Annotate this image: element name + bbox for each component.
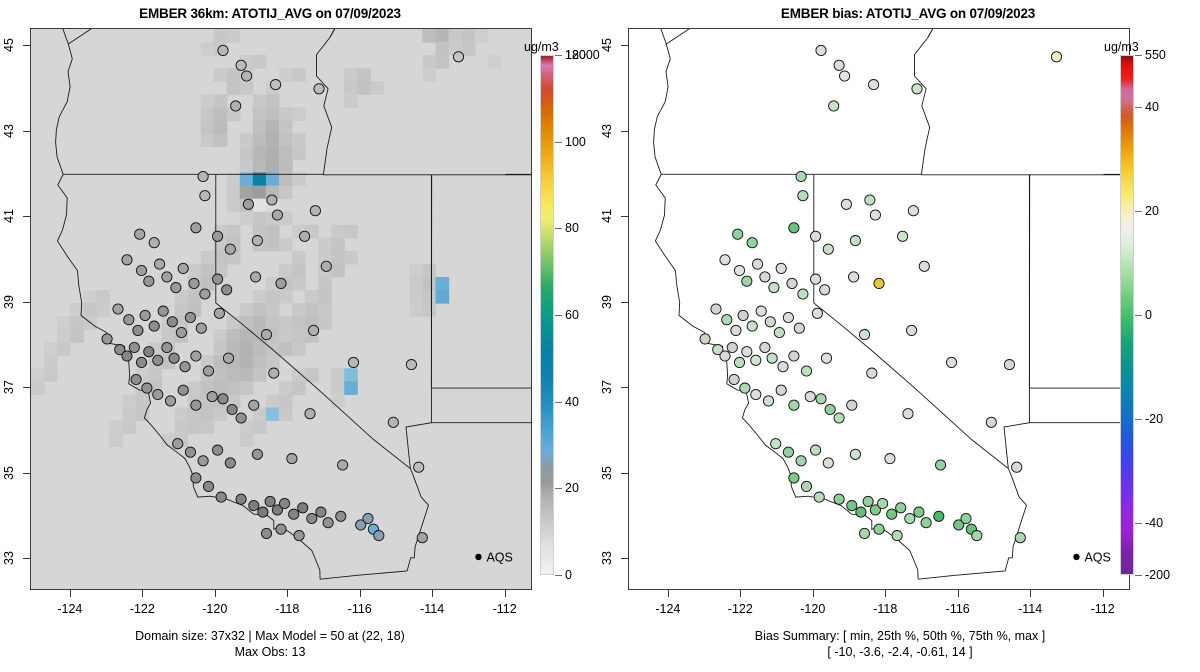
- colorbar-tick-mark: [1135, 523, 1142, 524]
- station-marker[interactable]: [140, 310, 150, 320]
- x-tick-label: -118: [275, 602, 299, 616]
- station-marker[interactable]: [213, 445, 223, 455]
- map-boundary: [814, 174, 1030, 468]
- station-marker[interactable]: [789, 473, 799, 483]
- station-marker[interactable]: [252, 449, 262, 459]
- station-marker[interactable]: [276, 278, 286, 288]
- model-grid-cell: [31, 368, 45, 382]
- station-marker[interactable]: [276, 524, 286, 534]
- y-tick-mark: [23, 45, 30, 46]
- station-marker[interactable]: [348, 357, 358, 367]
- colorbar-gradient[interactable]: [1120, 55, 1134, 575]
- station-marker[interactable]: [261, 528, 271, 538]
- station-marker[interactable]: [158, 306, 168, 316]
- station-marker[interactable]: [124, 315, 134, 325]
- x-tick-mark: [1030, 590, 1031, 597]
- station-marker[interactable]: [214, 308, 224, 318]
- y-tick-label: 43: [600, 124, 614, 138]
- station-marker[interactable]: [919, 261, 929, 271]
- station-marker[interactable]: [801, 481, 811, 491]
- station-marker[interactable]: [252, 236, 262, 246]
- station-marker[interactable]: [261, 330, 271, 340]
- station-marker[interactable]: [305, 409, 315, 419]
- station-marker[interactable]: [136, 265, 146, 275]
- station-marker[interactable]: [834, 413, 844, 423]
- station-marker[interactable]: [227, 404, 237, 414]
- model-grid-cell: [188, 264, 202, 278]
- station-marker[interactable]: [742, 347, 752, 357]
- station-marker[interactable]: [336, 511, 346, 521]
- station-marker[interactable]: [280, 498, 290, 508]
- model-grid-cell: [423, 68, 437, 82]
- model-grid-cell: [409, 290, 423, 304]
- model-grid-cell: [266, 160, 280, 174]
- station-marker[interactable]: [747, 238, 757, 248]
- station-marker[interactable]: [218, 394, 228, 404]
- station-marker[interactable]: [961, 513, 971, 523]
- station-marker[interactable]: [805, 392, 815, 402]
- colorbar-tick-mark: [1135, 211, 1142, 212]
- station-marker[interactable]: [1015, 533, 1025, 543]
- station-marker[interactable]: [905, 513, 915, 523]
- map-boundary: [666, 29, 925, 44]
- station-marker[interactable]: [406, 360, 416, 370]
- model-grid-cell: [279, 264, 293, 278]
- station-marker[interactable]: [251, 272, 261, 282]
- station-marker[interactable]: [823, 458, 833, 468]
- station-marker[interactable]: [700, 334, 710, 344]
- model-grid-cell: [109, 434, 123, 448]
- caption-line1-bias: Bias Summary: [ min, 25th %, 50th %, 75t…: [630, 628, 1170, 644]
- model-grid-cell: [462, 42, 476, 56]
- station-marker[interactable]: [859, 528, 869, 538]
- model-grid-cell: [266, 407, 280, 421]
- station-marker[interactable]: [338, 460, 348, 470]
- station-marker[interactable]: [236, 494, 246, 504]
- station-marker[interactable]: [162, 342, 172, 352]
- station-marker[interactable]: [816, 45, 826, 55]
- station-marker[interactable]: [912, 84, 922, 94]
- caption-line1-model: Domain size: 37x32 | Max Model = 50 at (…: [0, 628, 540, 644]
- station-marker[interactable]: [191, 400, 201, 410]
- model-grid-cell: [253, 160, 267, 174]
- model-grid-cell: [253, 303, 267, 317]
- y-tick-label: 41: [600, 209, 614, 223]
- station-marker[interactable]: [850, 236, 860, 246]
- station-marker[interactable]: [796, 171, 806, 181]
- station-marker[interactable]: [203, 481, 213, 491]
- colorbar-tick-mark: [1135, 419, 1142, 420]
- model-grid-cell: [423, 303, 437, 317]
- station-marker[interactable]: [789, 400, 799, 410]
- station-marker[interactable]: [178, 263, 188, 273]
- map-boundary: [928, 29, 933, 38]
- model-grid-cell: [227, 68, 241, 82]
- station-marker[interactable]: [1051, 52, 1061, 62]
- station-marker[interactable]: [783, 447, 793, 457]
- model-grid-cell: [240, 133, 254, 147]
- station-marker[interactable]: [213, 231, 223, 241]
- station-marker[interactable]: [200, 289, 210, 299]
- model-grid-cell: [279, 146, 293, 160]
- station-marker[interactable]: [722, 315, 732, 325]
- station-marker[interactable]: [363, 513, 373, 523]
- station-marker[interactable]: [289, 509, 299, 519]
- station-marker[interactable]: [763, 396, 773, 406]
- station-marker[interactable]: [856, 507, 866, 517]
- station-marker[interactable]: [191, 223, 201, 233]
- station-marker[interactable]: [767, 353, 777, 363]
- model-grid-cell: [344, 368, 358, 382]
- station-marker[interactable]: [892, 531, 902, 541]
- x-tick-mark: [1103, 590, 1104, 597]
- model-grid-cell: [253, 212, 267, 226]
- station-marker[interactable]: [222, 285, 232, 295]
- x-axis-bias: -124-122-120-118-116-114-112: [628, 590, 1128, 620]
- station-marker[interactable]: [865, 195, 875, 205]
- station-marker[interactable]: [144, 347, 154, 357]
- station-marker[interactable]: [155, 259, 165, 269]
- map-canvas-bias: AQS: [629, 29, 1129, 589]
- y-axis-bias: 33353739414345: [619, 28, 628, 588]
- station-marker[interactable]: [711, 304, 721, 314]
- x-tick-label: -120: [800, 602, 825, 616]
- station-marker[interactable]: [1012, 462, 1022, 472]
- station-marker[interactable]: [771, 439, 781, 449]
- model-grid-cell: [201, 407, 215, 421]
- station-marker[interactable]: [149, 238, 159, 248]
- station-marker[interactable]: [898, 231, 908, 241]
- station-marker[interactable]: [309, 325, 319, 335]
- station-marker[interactable]: [269, 368, 279, 378]
- station-marker[interactable]: [129, 342, 139, 352]
- station-marker[interactable]: [225, 458, 235, 468]
- station-marker[interactable]: [191, 473, 201, 483]
- y-tick-mark: [621, 302, 628, 303]
- station-marker[interactable]: [840, 71, 850, 81]
- station-marker[interactable]: [814, 492, 824, 502]
- station-marker[interactable]: [213, 274, 223, 284]
- y-tick-label: 45: [2, 38, 16, 52]
- model-grid-cell: [266, 107, 280, 121]
- station-marker[interactable]: [267, 195, 277, 205]
- colorbar-tick-mark: [1135, 575, 1142, 576]
- station-marker[interactable]: [249, 400, 259, 410]
- station-marker[interactable]: [417, 533, 427, 543]
- station-marker[interactable]: [223, 353, 233, 363]
- station-marker[interactable]: [153, 389, 163, 399]
- station-marker[interactable]: [740, 383, 750, 393]
- model-grid-cell: [436, 29, 450, 43]
- model-grid-cell: [266, 120, 280, 134]
- station-marker[interactable]: [986, 417, 996, 427]
- station-marker[interactable]: [165, 396, 175, 406]
- station-marker[interactable]: [236, 60, 246, 70]
- model-grid-cell: [240, 368, 254, 382]
- x-tick-label: -116: [348, 602, 372, 616]
- station-marker[interactable]: [271, 80, 281, 90]
- station-marker[interactable]: [874, 524, 884, 534]
- station-marker[interactable]: [903, 409, 913, 419]
- station-marker[interactable]: [153, 355, 163, 365]
- station-marker[interactable]: [834, 494, 844, 504]
- station-marker[interactable]: [162, 272, 172, 282]
- colorbar-gradient[interactable]: [540, 55, 554, 575]
- station-marker[interactable]: [720, 351, 730, 361]
- station-marker[interactable]: [751, 355, 761, 365]
- station-marker[interactable]: [751, 389, 761, 399]
- station-marker[interactable]: [834, 60, 844, 70]
- station-marker[interactable]: [314, 84, 324, 94]
- station-marker[interactable]: [753, 259, 763, 269]
- station-marker[interactable]: [765, 317, 775, 327]
- station-marker[interactable]: [189, 278, 199, 288]
- station-marker[interactable]: [243, 199, 253, 209]
- model-grid-cell: [227, 225, 241, 239]
- model-grid-cell: [253, 290, 267, 304]
- station-marker[interactable]: [185, 447, 195, 457]
- station-marker[interactable]: [122, 255, 132, 265]
- station-marker[interactable]: [258, 507, 268, 517]
- station-marker[interactable]: [167, 317, 177, 327]
- station-marker[interactable]: [323, 518, 333, 528]
- colorbar-tick-mark: [1135, 55, 1142, 56]
- station-marker[interactable]: [265, 496, 275, 506]
- station-marker[interactable]: [907, 325, 917, 335]
- station-marker[interactable]: [307, 513, 317, 523]
- model-grid-cell: [240, 329, 254, 343]
- station-marker[interactable]: [847, 501, 857, 511]
- station-marker[interactable]: [316, 507, 326, 517]
- station-marker[interactable]: [863, 496, 873, 506]
- station-marker[interactable]: [207, 392, 217, 402]
- station-marker[interactable]: [778, 362, 788, 372]
- model-grid-cell: [83, 303, 97, 317]
- station-marker[interactable]: [173, 439, 183, 449]
- x-tick-label: -124: [655, 602, 680, 616]
- station-marker[interactable]: [321, 261, 331, 271]
- station-marker[interactable]: [936, 460, 946, 470]
- station-marker[interactable]: [720, 255, 730, 265]
- model-grid-cell: [240, 303, 254, 317]
- station-marker[interactable]: [225, 244, 235, 254]
- station-marker[interactable]: [801, 366, 811, 376]
- station-marker[interactable]: [972, 531, 982, 541]
- station-marker[interactable]: [196, 323, 206, 333]
- station-marker[interactable]: [236, 413, 246, 423]
- station-marker[interactable]: [742, 276, 752, 286]
- station-marker[interactable]: [841, 199, 851, 209]
- station-marker[interactable]: [298, 503, 308, 513]
- station-marker[interactable]: [144, 276, 154, 286]
- station-marker[interactable]: [102, 334, 112, 344]
- colorbar-tick-label: -20: [1145, 412, 1163, 426]
- station-marker[interactable]: [796, 456, 806, 466]
- station-marker[interactable]: [774, 327, 784, 337]
- model-grid-cell: [344, 225, 358, 239]
- station-marker[interactable]: [142, 383, 152, 393]
- station-marker[interactable]: [823, 244, 833, 254]
- model-grid-cell: [96, 290, 110, 304]
- station-marker[interactable]: [946, 357, 956, 367]
- colorbar-unit-label: ug/m3: [1104, 40, 1139, 54]
- station-marker[interactable]: [825, 404, 835, 414]
- y-tick-mark: [23, 131, 30, 132]
- station-marker[interactable]: [388, 417, 398, 427]
- station-marker[interactable]: [374, 531, 384, 541]
- station-marker[interactable]: [914, 507, 924, 517]
- station-marker[interactable]: [300, 231, 310, 241]
- station-marker[interactable]: [242, 71, 252, 81]
- x-tick-label: -122: [728, 602, 753, 616]
- model-grid-cell: [318, 290, 332, 304]
- y-tick-label: 37: [2, 380, 16, 394]
- station-marker[interactable]: [310, 206, 320, 216]
- station-marker[interactable]: [850, 449, 860, 459]
- station-marker[interactable]: [812, 308, 822, 318]
- station-marker[interactable]: [294, 531, 304, 541]
- y-tick-label: 35: [600, 466, 614, 480]
- station-marker[interactable]: [787, 278, 797, 288]
- model-grid-cell: [253, 133, 267, 147]
- station-marker[interactable]: [849, 272, 859, 282]
- station-marker[interactable]: [287, 454, 297, 464]
- station-marker[interactable]: [821, 353, 831, 363]
- x-tick-label: -112: [1091, 602, 1115, 616]
- model-grid-cell: [253, 94, 267, 108]
- model-grid-cell: [370, 81, 384, 95]
- station-marker[interactable]: [747, 321, 757, 331]
- station-marker[interactable]: [733, 229, 743, 239]
- model-grid-cell: [201, 107, 215, 121]
- station-marker[interactable]: [136, 357, 146, 367]
- model-grid-cell: [253, 355, 267, 369]
- station-marker[interactable]: [921, 518, 931, 528]
- station-marker[interactable]: [798, 289, 808, 299]
- station-marker[interactable]: [887, 509, 897, 519]
- station-marker[interactable]: [176, 327, 186, 337]
- station-marker[interactable]: [769, 283, 779, 293]
- station-marker[interactable]: [738, 310, 748, 320]
- station-marker[interactable]: [178, 385, 188, 395]
- station-marker[interactable]: [878, 498, 888, 508]
- station-marker[interactable]: [734, 265, 744, 275]
- map-boundary: [915, 29, 933, 174]
- station-marker[interactable]: [734, 357, 744, 367]
- station-marker[interactable]: [113, 304, 123, 314]
- station-marker[interactable]: [453, 52, 463, 62]
- model-grid-cell: [201, 42, 215, 56]
- station-marker[interactable]: [191, 351, 201, 361]
- station-marker[interactable]: [169, 353, 179, 363]
- station-marker[interactable]: [908, 206, 918, 216]
- station-marker[interactable]: [149, 321, 159, 331]
- station-marker[interactable]: [783, 312, 793, 322]
- station-marker[interactable]: [218, 45, 228, 55]
- station-marker[interactable]: [811, 274, 821, 284]
- station-marker[interactable]: [870, 210, 880, 220]
- station-marker[interactable]: [198, 456, 208, 466]
- model-grid-cell: [318, 238, 332, 252]
- station-marker[interactable]: [874, 278, 884, 288]
- station-marker[interactable]: [203, 366, 213, 376]
- station-marker[interactable]: [731, 325, 741, 335]
- station-marker[interactable]: [869, 80, 879, 90]
- y-tick-mark: [621, 387, 628, 388]
- map-plot-bias[interactable]: AQS: [628, 28, 1130, 590]
- station-marker[interactable]: [896, 503, 906, 513]
- map-plot-model[interactable]: AQS: [30, 28, 532, 590]
- station-marker[interactable]: [847, 400, 857, 410]
- model-grid-cell: [331, 251, 345, 265]
- model-grid-cell: [292, 68, 306, 82]
- model-grid-cell: [423, 29, 437, 43]
- model-grid-cell: [240, 146, 254, 160]
- model-grid-cell: [253, 342, 267, 356]
- model-grid-cell: [292, 251, 306, 265]
- station-marker[interactable]: [185, 312, 195, 322]
- station-marker[interactable]: [820, 285, 830, 295]
- station-marker[interactable]: [131, 374, 141, 384]
- model-grid-cell: [227, 186, 241, 200]
- y-tick-mark: [23, 558, 30, 559]
- station-marker[interactable]: [816, 394, 826, 404]
- model-grid-cell: [175, 421, 189, 435]
- station-marker[interactable]: [756, 306, 766, 316]
- model-grid-cell: [266, 303, 280, 317]
- station-marker[interactable]: [776, 385, 786, 395]
- station-marker[interactable]: [216, 492, 226, 502]
- colorbar-bias[interactable]: ug/m355040200-20-40-200: [1120, 40, 1190, 585]
- station-marker[interactable]: [934, 511, 944, 521]
- model-grid-cell: [266, 94, 280, 108]
- station-marker[interactable]: [798, 191, 808, 201]
- station-marker[interactable]: [811, 445, 821, 455]
- station-marker[interactable]: [829, 101, 839, 111]
- station-marker[interactable]: [122, 351, 132, 361]
- station-marker[interactable]: [794, 323, 804, 333]
- station-marker[interactable]: [760, 272, 770, 282]
- station-marker[interactable]: [200, 191, 210, 201]
- model-grid-cell: [318, 316, 332, 330]
- station-marker[interactable]: [231, 101, 241, 111]
- station-marker[interactable]: [789, 351, 799, 361]
- model-grid-cell: [240, 342, 254, 356]
- model-grid-cell: [436, 277, 450, 291]
- station-marker[interactable]: [180, 362, 190, 372]
- station-marker[interactable]: [272, 210, 282, 220]
- station-marker[interactable]: [760, 342, 770, 352]
- station-marker[interactable]: [171, 283, 181, 293]
- station-marker[interactable]: [776, 263, 786, 273]
- station-marker[interactable]: [135, 229, 145, 239]
- model-grid-cell: [266, 355, 280, 369]
- station-marker[interactable]: [867, 368, 877, 378]
- station-marker[interactable]: [885, 454, 895, 464]
- station-marker[interactable]: [198, 171, 208, 181]
- station-marker[interactable]: [1004, 360, 1014, 370]
- station-marker[interactable]: [727, 342, 737, 352]
- station-marker[interactable]: [811, 231, 821, 241]
- station-marker[interactable]: [133, 325, 143, 335]
- model-grid-cell: [253, 368, 267, 382]
- station-marker[interactable]: [789, 223, 799, 233]
- station-marker[interactable]: [729, 374, 739, 384]
- station-marker[interactable]: [414, 462, 424, 472]
- model-grid-cell: [266, 225, 280, 239]
- station-marker[interactable]: [859, 330, 869, 340]
- station-marker[interactable]: [249, 501, 259, 511]
